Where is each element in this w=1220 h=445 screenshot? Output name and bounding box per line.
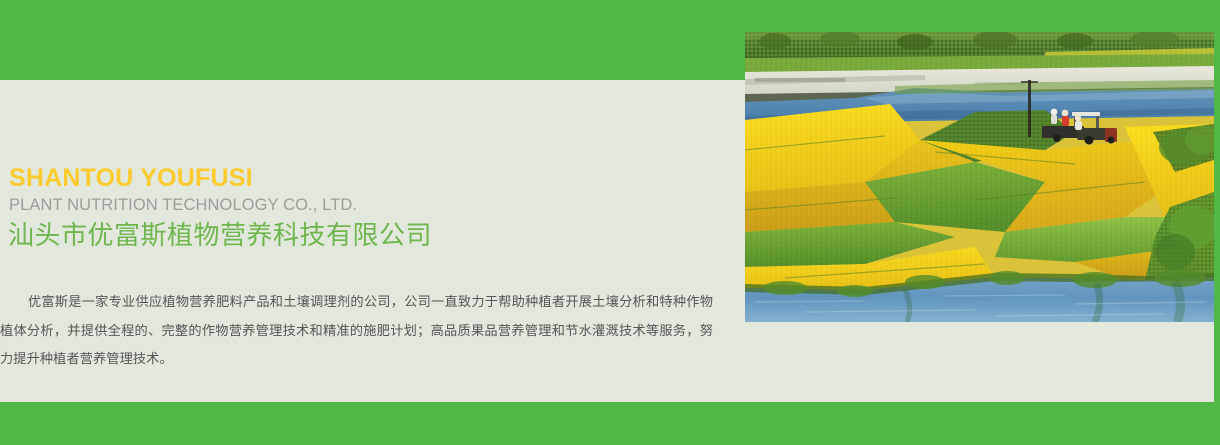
right-edge-green-strip	[1214, 0, 1220, 402]
rice-paddy-aerial-photo: 航拍金黄色稻田、收割机、河道与池塘	[745, 32, 1214, 322]
company-title-chinese: 汕头市优富斯植物营养科技有限公司	[8, 220, 432, 251]
bottom-green-band	[0, 402, 1220, 445]
company-intro-paragraph: 优富斯是一家专业供应植物营养肥料产品和土壤调理剂的公司，公司一直致力于帮助种植者…	[0, 288, 713, 374]
company-subtitle-english: PLANT NUTRITION TECHNOLOGY CO., LTD.	[9, 197, 357, 214]
rice-paddy-illustration	[745, 32, 1214, 322]
left-text-column: SHANTOU YOUFUSI PLANT NUTRITION TECHNOLO…	[0, 80, 740, 402]
company-title-english: SHANTOU YOUFUSI	[9, 166, 253, 191]
company-profile-page: SHANTOU YOUFUSI PLANT NUTRITION TECHNOLO…	[0, 0, 1220, 445]
